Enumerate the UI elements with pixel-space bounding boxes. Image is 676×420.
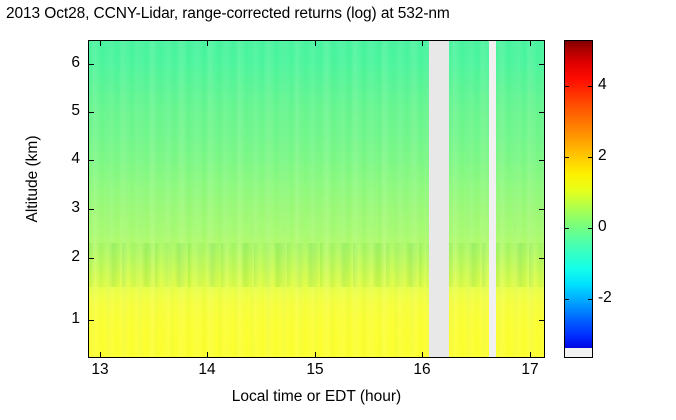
y-ticklabel-3: 3: [71, 200, 80, 216]
x-tick-top-15: [315, 41, 316, 46]
cb-tick-right-0: [588, 228, 592, 229]
y-ticklabel-1: 1: [71, 311, 80, 327]
x-ticklabel-15: 15: [306, 362, 323, 378]
y-tick-1: [89, 320, 94, 321]
y-ticklabel-5: 5: [71, 103, 80, 119]
y-ticklabel-4: 4: [71, 151, 80, 167]
cb-ticklabel-4: 4: [598, 77, 607, 93]
boundary-layer-top-band: [89, 243, 429, 287]
cb-tick-right-2: [588, 157, 592, 158]
y-tick-right-6: [539, 64, 544, 65]
page-title: 2013 Oct28, CCNY-Lidar, range-corrected …: [6, 4, 670, 24]
y-tick-3: [89, 209, 94, 210]
x-tick-13: [100, 352, 101, 357]
y-tick-right-4: [539, 160, 544, 161]
x-ticklabel-13: 13: [91, 362, 108, 378]
x-axis-label: Local time or EDT (hour): [88, 388, 545, 406]
x-ticklabel-14: 14: [198, 362, 215, 378]
colorbar-underflow-band: [565, 348, 592, 357]
cb-tick-2: [565, 157, 569, 158]
colorbar[interactable]: [564, 40, 593, 358]
y-ticklabel-2: 2: [71, 249, 80, 265]
cb-tick-right-4: [588, 86, 592, 87]
x-ticklabel-17: 17: [521, 362, 538, 378]
cb-tick-right-minus-2: [588, 299, 592, 300]
heatmap-field-mottle-2: [89, 41, 429, 357]
y-axis-label: Altitude (km): [24, 99, 42, 259]
y-tick-2: [89, 258, 94, 259]
x-tick-top-13: [100, 41, 101, 46]
cb-tick-0: [565, 228, 569, 229]
y-tick-4: [89, 160, 94, 161]
x-tick-top-16: [422, 41, 423, 46]
boundary-layer-top-band: [449, 243, 489, 287]
cb-tick-4: [565, 86, 569, 87]
x-ticklabel-16: 16: [413, 362, 430, 378]
x-tick-16: [422, 352, 423, 357]
heatmap-field-mottle-2: [496, 41, 545, 357]
y-ticklabel-6: 6: [71, 55, 80, 71]
y-tick-right-1: [539, 320, 544, 321]
heatmap-segment-2: [449, 41, 489, 357]
heatmap-segment-1: [89, 41, 429, 357]
x-tick-17: [530, 352, 531, 357]
x-tick-14: [207, 352, 208, 357]
cb-tick-minus-2: [565, 299, 569, 300]
cb-ticklabel-0: 0: [598, 219, 607, 235]
x-tick-top-14: [207, 41, 208, 46]
heatmap-segment-3: [496, 41, 545, 357]
x-tick-15: [315, 352, 316, 357]
y-tick-right-5: [539, 112, 544, 113]
lidar-figure: 2013 Oct28, CCNY-Lidar, range-corrected …: [0, 0, 676, 420]
y-tick-5: [89, 112, 94, 113]
data-gap-1: [429, 41, 449, 357]
cb-ticklabel-2: 2: [598, 148, 607, 164]
heatmap-field-mottle-2: [449, 41, 489, 357]
y-tick-6: [89, 64, 94, 65]
y-tick-right-2: [539, 258, 544, 259]
colorbar-gradient: [565, 41, 592, 357]
cb-ticklabel-minus-2: -2: [598, 290, 612, 306]
data-gap-2: [489, 41, 496, 357]
heatmap-plot-area[interactable]: [88, 40, 545, 358]
boundary-layer-top-band: [496, 243, 545, 287]
x-tick-top-17: [530, 41, 531, 46]
y-tick-right-3: [539, 209, 544, 210]
